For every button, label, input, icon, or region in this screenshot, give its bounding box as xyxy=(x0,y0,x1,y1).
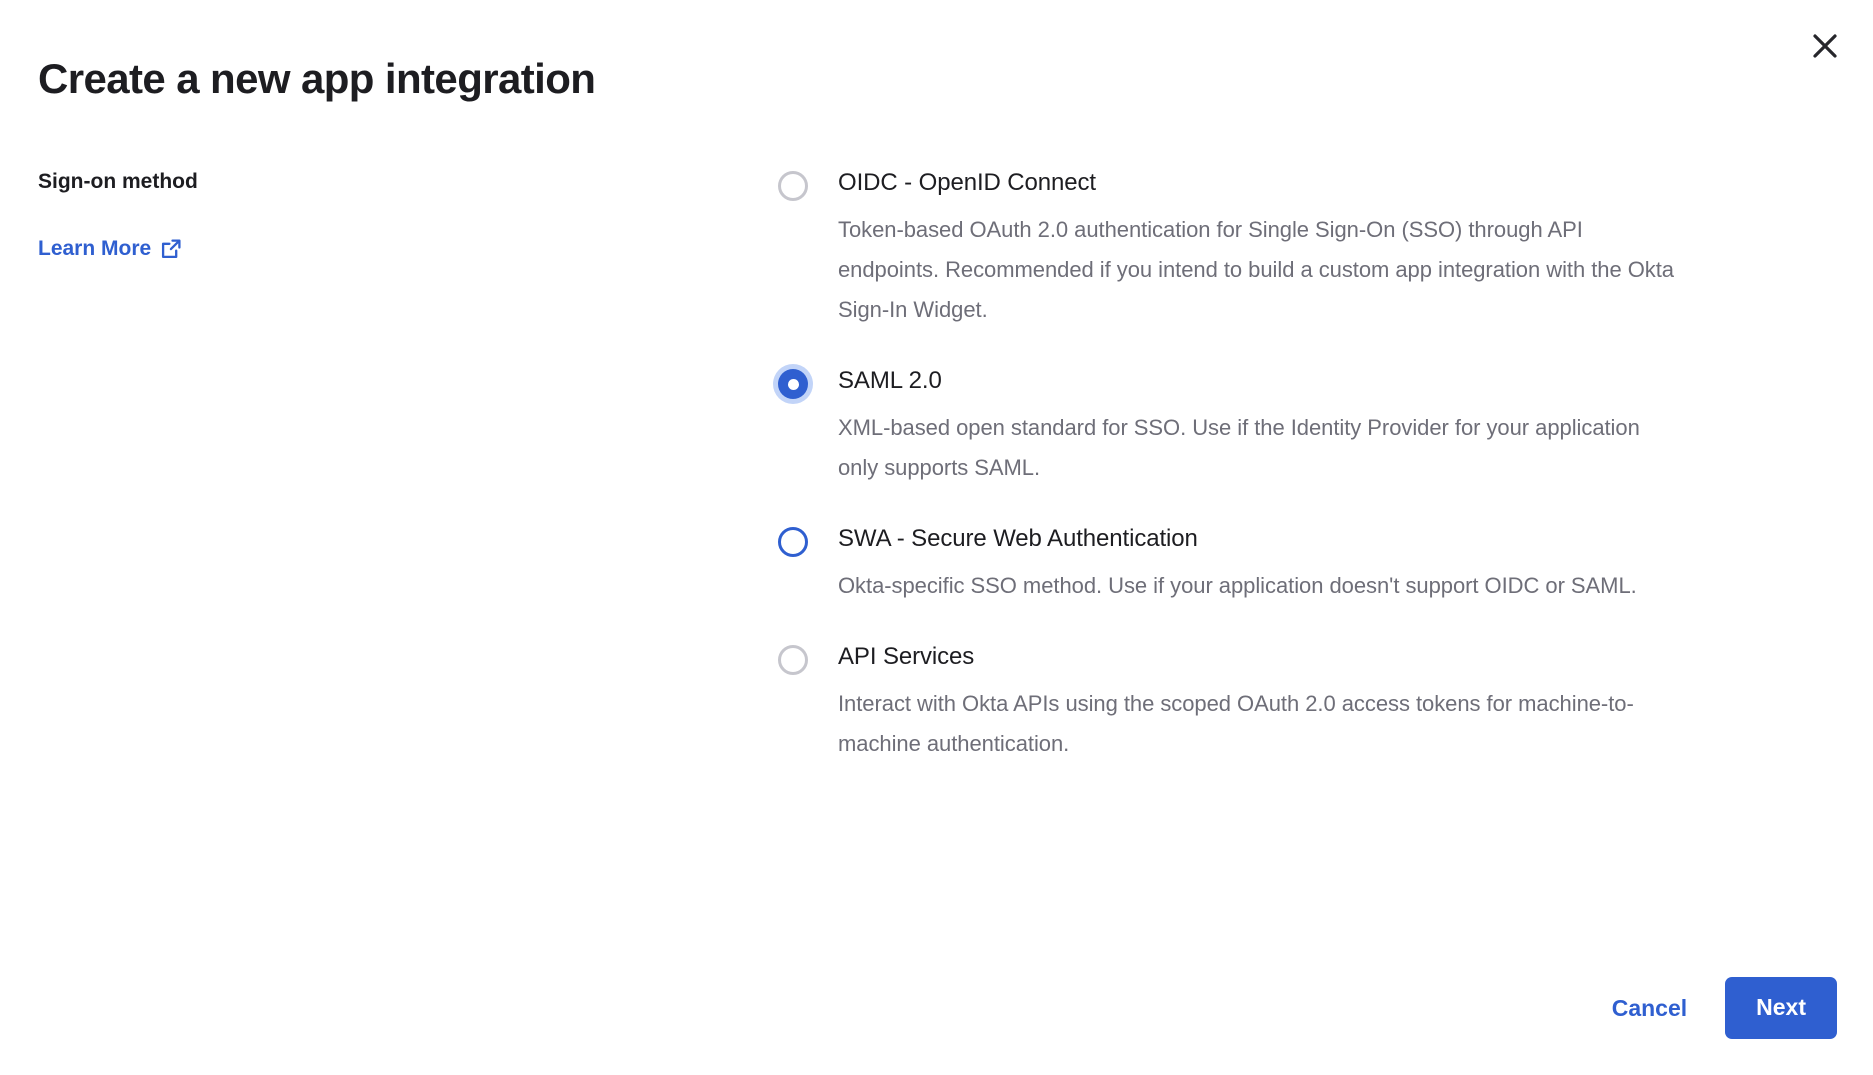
page-title: Create a new app integration xyxy=(38,56,595,102)
dialog-footer: Cancel Next xyxy=(1608,977,1837,1039)
sign-on-method-panel: Sign-on method Learn More xyxy=(38,168,738,261)
option-label-saml: SAML 2.0 xyxy=(838,366,1830,396)
option-api-services[interactable]: API Services Interact with Okta APIs usi… xyxy=(770,642,1830,764)
option-oidc[interactable]: OIDC - OpenID Connect Token-based OAuth … xyxy=(770,168,1830,330)
option-saml[interactable]: SAML 2.0 XML-based open standard for SSO… xyxy=(770,366,1830,488)
section-label: Sign-on method xyxy=(38,168,738,195)
cancel-button[interactable]: Cancel xyxy=(1608,989,1691,1028)
option-description-saml: XML-based open standard for SSO. Use if … xyxy=(838,408,1683,488)
learn-more-link[interactable]: Learn More xyxy=(38,237,182,261)
close-icon xyxy=(1812,33,1838,59)
close-dialog-button[interactable] xyxy=(1803,24,1847,68)
radio-api-services[interactable] xyxy=(778,645,808,675)
radio-saml[interactable] xyxy=(778,369,808,399)
option-description-swa: Okta-specific SSO method. Use if your ap… xyxy=(838,566,1683,606)
learn-more-label: Learn More xyxy=(38,237,151,261)
option-label-swa: SWA - Secure Web Authentication xyxy=(838,524,1830,554)
radio-swa[interactable] xyxy=(778,527,808,557)
radio-oidc[interactable] xyxy=(778,171,808,201)
next-button[interactable]: Next xyxy=(1725,977,1837,1039)
option-description-api-services: Interact with Okta APIs using the scoped… xyxy=(838,684,1683,764)
option-label-oidc: OIDC - OpenID Connect xyxy=(838,168,1830,198)
option-swa[interactable]: SWA - Secure Web Authentication Okta-spe… xyxy=(770,524,1830,606)
sign-on-method-radio-group: OIDC - OpenID Connect Token-based OAuth … xyxy=(770,168,1830,764)
option-label-api-services: API Services xyxy=(838,642,1830,672)
option-description-oidc: Token-based OAuth 2.0 authentication for… xyxy=(838,210,1683,330)
external-link-icon xyxy=(160,238,182,260)
